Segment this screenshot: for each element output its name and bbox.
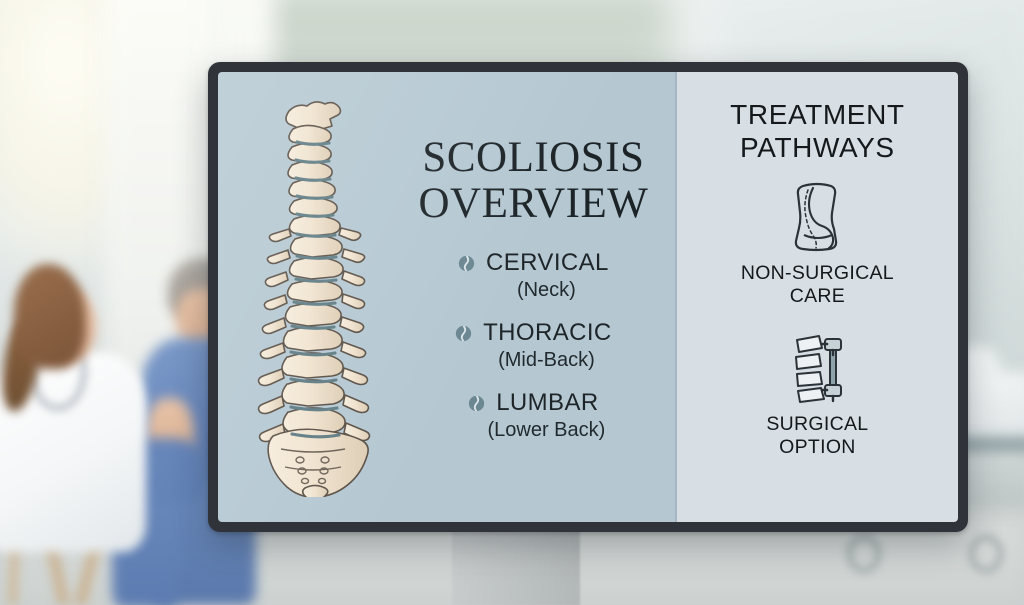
pathway-label: SURGICAL OPTION bbox=[766, 413, 868, 460]
spine-curve-icon bbox=[455, 325, 472, 342]
doctor-figure-hair bbox=[14, 264, 86, 369]
display-monitor: SCOLIOSIS OVERVIEW CERVICAL (Neck) bbox=[208, 62, 968, 532]
treatment-pathways-title: TREATMENT PATHWAYS bbox=[730, 98, 904, 164]
list-item-label: LUMBAR bbox=[496, 389, 598, 417]
pathway-label: NON-SURGICAL CARE bbox=[741, 262, 894, 309]
list-item-sublabel: (Lower Back) bbox=[408, 419, 659, 442]
page-title-line-1: SCOLIOSIS bbox=[408, 135, 659, 181]
pathway-non-surgical[interactable]: NON-SURGICAL CARE bbox=[741, 180, 894, 309]
list-item[interactable]: CERVICAL (Neck) bbox=[408, 249, 659, 302]
pathway-label-line-2: CARE bbox=[741, 285, 894, 308]
page-title: SCOLIOSIS OVERVIEW bbox=[408, 135, 659, 228]
list-item[interactable]: LUMBAR (Lower Back) bbox=[408, 389, 659, 442]
list-item-main: THORACIC bbox=[408, 319, 659, 347]
hospital-bed-wheel bbox=[968, 534, 1004, 574]
list-item-sublabel: (Mid-Back) bbox=[408, 349, 659, 372]
page-title-line-2: OVERVIEW bbox=[408, 181, 659, 227]
pathway-icon-wrap bbox=[790, 180, 844, 254]
treatment-title-line-1: TREATMENT bbox=[730, 98, 904, 131]
list-item[interactable]: THORACIC (Mid-Back) bbox=[408, 319, 659, 372]
monitor-screen: SCOLIOSIS OVERVIEW CERVICAL (Neck) bbox=[218, 72, 958, 522]
treatment-pathways-panel: TREATMENT PATHWAYS NON-SURGICAL CARE bbox=[677, 72, 958, 522]
pathway-label-line-1: NON-SURGICAL bbox=[741, 262, 894, 285]
spine-curve-icon bbox=[468, 395, 485, 412]
anatomical-spine-icon bbox=[245, 97, 395, 497]
list-item-main: LUMBAR bbox=[408, 389, 659, 417]
list-item-main: CERVICAL bbox=[408, 249, 659, 277]
list-item-label: CERVICAL bbox=[486, 249, 609, 277]
pathway-icon-wrap bbox=[786, 331, 848, 405]
spine-curve-icon bbox=[458, 255, 475, 272]
hospital-bed-wheel bbox=[846, 534, 882, 574]
scoliosis-overview-panel: SCOLIOSIS OVERVIEW CERVICAL (Neck) bbox=[218, 72, 677, 522]
treatment-title-line-2: PATHWAYS bbox=[730, 131, 904, 164]
list-item-label: THORACIC bbox=[483, 319, 612, 347]
pathway-label-line-2: OPTION bbox=[766, 436, 868, 459]
back-brace-icon bbox=[790, 181, 844, 253]
spinal-rod-icon bbox=[786, 333, 848, 403]
spine-illustration bbox=[218, 97, 408, 497]
monitor-stand bbox=[452, 528, 580, 605]
list-item-sublabel: (Neck) bbox=[408, 279, 659, 302]
pathway-surgical[interactable]: SURGICAL OPTION bbox=[766, 331, 868, 460]
overview-text-block: SCOLIOSIS OVERVIEW CERVICAL (Neck) bbox=[408, 135, 677, 460]
pathway-label-line-1: SURGICAL bbox=[766, 413, 868, 436]
